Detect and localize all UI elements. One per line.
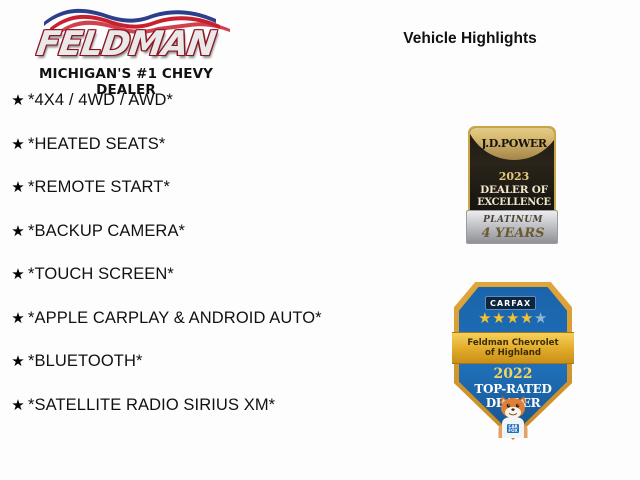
- carfax-star-rating: ★★★★★: [454, 311, 572, 327]
- star-bullet-icon: ★: [8, 90, 28, 111]
- list-item: ★ *REMOTE START*: [8, 177, 328, 198]
- jd-power-brand: J.D.POWER: [470, 137, 556, 150]
- carfax-logo: CARFAX: [485, 296, 536, 310]
- list-item: ★ *BACKUP CAMERA*: [8, 221, 328, 242]
- list-item: ★ *SATELLITE RADIO SIRIUS XM*: [8, 395, 328, 416]
- list-item-label: *TOUCH SCREEN*: [28, 264, 328, 285]
- list-item-label: *BLUETOOTH*: [28, 351, 328, 372]
- list-item: ★ *BLUETOOTH*: [8, 351, 328, 372]
- car-fox-mascot-icon: CAR FOX: [493, 394, 533, 438]
- page-header: FELDMAN MICHIGAN'S #1 CHEVY DEALER Vehic…: [0, 0, 640, 86]
- jd-power-award-line-1: DEALER OF: [470, 184, 556, 196]
- star-bullet-icon: ★: [8, 308, 28, 329]
- jd-power-award-line-2: EXCELLENCE: [470, 197, 556, 208]
- carfax-year: 2022: [454, 366, 572, 382]
- dealer-wordmark: FELDMAN: [9, 24, 243, 64]
- list-item: ★ *4X4 / 4WD / AWD*: [8, 90, 328, 111]
- jd-power-tier: PLATINUM: [467, 215, 559, 225]
- list-item: ★ *HEATED SEATS*: [8, 134, 328, 155]
- carfax-dealer-banner: Feldman Chevrolet of Highland: [452, 332, 574, 364]
- carfax-top-rated-dealer-badge: CARFAX ★★★★★ Feldman Chevrolet of Highla…: [454, 282, 572, 440]
- list-item-label: *APPLE CARPLAY & ANDROID AUTO*: [28, 308, 328, 329]
- vehicle-highlights-list: ★ *4X4 / 4WD / AWD* ★ *HEATED SEATS* ★ *…: [8, 90, 328, 438]
- jd-power-year: 2023: [470, 170, 556, 183]
- list-item-label: *SATELLITE RADIO SIRIUS XM*: [28, 395, 328, 416]
- list-item-label: *4X4 / 4WD / AWD*: [28, 90, 328, 111]
- star-bullet-icon: ★: [8, 221, 28, 242]
- dealer-logo[interactable]: FELDMAN MICHIGAN'S #1 CHEVY DEALER: [12, 6, 240, 84]
- vehicle-highlights-page: FELDMAN MICHIGAN'S #1 CHEVY DEALER Vehic…: [0, 0, 640, 480]
- star-bullet-icon: ★: [8, 264, 28, 285]
- svg-text:FOX: FOX: [508, 428, 518, 433]
- jd-power-award-badge: J.D.POWER 2023 DEALER OF EXCELLENCE PLAT…: [466, 126, 558, 244]
- star-bullet-icon: ★: [8, 351, 28, 372]
- carfax-stars-filled: ★★★★: [478, 310, 534, 327]
- star-bullet-icon: ★: [8, 395, 28, 416]
- list-item-label: *REMOTE START*: [28, 177, 328, 198]
- star-bullet-icon: ★: [8, 134, 28, 155]
- carfax-dealer-name-line-2: of Highland: [452, 348, 574, 358]
- jd-power-plaque: J.D.POWER 2023 DEALER OF EXCELLENCE: [468, 126, 556, 218]
- list-item: ★ *TOUCH SCREEN*: [8, 264, 328, 285]
- list-item: ★ *APPLE CARPLAY & ANDROID AUTO*: [8, 308, 328, 329]
- jd-power-ribbon: PLATINUM 4 YEARS: [466, 210, 558, 244]
- carfax-star-partial: ★: [534, 310, 548, 327]
- list-item-label: *HEATED SEATS*: [28, 134, 328, 155]
- list-item-label: *BACKUP CAMERA*: [28, 221, 328, 242]
- page-title: Vehicle Highlights: [360, 30, 580, 48]
- star-bullet-icon: ★: [8, 177, 28, 198]
- jd-power-duration: 4 YEARS: [467, 226, 559, 241]
- carfax-dealer-name-line-1: Feldman Chevrolet: [452, 338, 574, 348]
